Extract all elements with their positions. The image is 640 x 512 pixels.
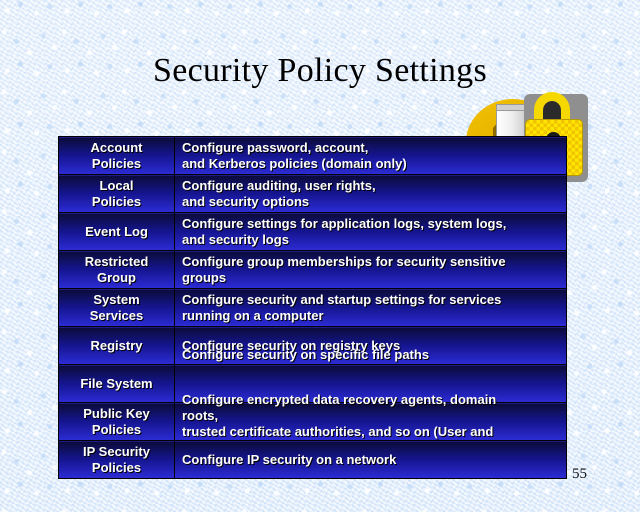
label-line: Group [97,270,136,285]
label-line: Policies [92,422,141,437]
table-row: IP Security Policies Configure IP securi… [59,441,567,479]
policy-description-ip-security-policies: Configure IP security on a network [175,441,567,479]
policy-description-system-services: Configure security and startup settings … [175,289,567,327]
label-line: Local [100,178,134,193]
desc-line: trusted certificate authorities, and so … [182,424,572,440]
table-row: Account Policies Configure password, acc… [59,137,567,175]
table-row: System Services Configure security and s… [59,289,567,327]
policy-label-registry: Registry [59,327,175,365]
security-policy-table: Account Policies Configure password, acc… [58,136,567,479]
policy-description-event-log: Configure settings for application logs,… [175,213,567,251]
policy-label-ip-security-policies: IP Security Policies [59,441,175,479]
label-line: Policies [92,460,141,475]
table-body: Account Policies Configure password, acc… [59,137,567,479]
desc-line: roots, [182,408,572,424]
table-row: Public Key Policies Configure encrypted … [59,403,567,441]
policy-description-local-policies: Configure auditing, user rights, and sec… [175,175,567,213]
page-title: Security Policy Settings [0,50,640,92]
policy-label-account-policies: Account Policies [59,137,175,175]
policy-description-account-policies: Configure password, account, and Kerbero… [175,137,567,175]
table-row: Restricted Group Configure group members… [59,251,567,289]
policy-label-event-log: Event Log [59,213,175,251]
label-line: Registry [90,338,142,353]
desc-line: Configure auditing, user rights, [182,178,566,194]
policy-description-restricted-group: Configure group memberships for security… [175,251,567,289]
label-line: System [93,292,139,307]
label-line: Restricted [85,254,149,269]
desc-line: groups [182,270,566,286]
policy-label-local-policies: Local Policies [59,175,175,213]
label-line: Event Log [85,224,148,239]
desc-line: Configure password, account, [182,140,566,156]
presentation-slide: Security Policy Settings Account Policie… [0,0,640,512]
desc-line: and security logs [182,232,566,248]
label-line: File System [80,376,152,391]
policy-label-file-system: File System [59,365,175,403]
label-line: Policies [92,156,141,171]
desc-line: running on a computer [182,308,566,324]
label-line: Policies [92,194,141,209]
desc-line: Configure group memberships for security… [182,254,566,270]
desc-line: and Kerberos policies (domain only) [182,156,566,172]
label-line: Account [91,140,143,155]
desc-line: Configure settings for application logs,… [182,216,566,232]
label-line: IP Security [83,444,150,459]
policy-description-public-key-policies: Configure encrypted data recovery agents… [175,403,567,441]
desc-line: Configure security on specific file path… [182,347,568,363]
label-line: Services [90,308,144,323]
desc-line: Configure encrypted data recovery agents… [182,392,572,408]
policy-label-restricted-group: Restricted Group [59,251,175,289]
desc-line: Configure IP security on a network [182,452,566,468]
desc-line: and security options [182,194,566,210]
page-number: 55 [572,466,587,483]
table-row: Local Policies Configure auditing, user … [59,175,567,213]
table-row: Event Log Configure settings for applica… [59,213,567,251]
label-line: Public Key [83,406,149,421]
desc-line: Configure security and startup settings … [182,292,566,308]
policy-label-public-key-policies: Public Key Policies [59,403,175,441]
desc-overflow-block: Configure encrypted data recovery agents… [182,392,572,440]
policy-label-system-services: System Services [59,289,175,327]
